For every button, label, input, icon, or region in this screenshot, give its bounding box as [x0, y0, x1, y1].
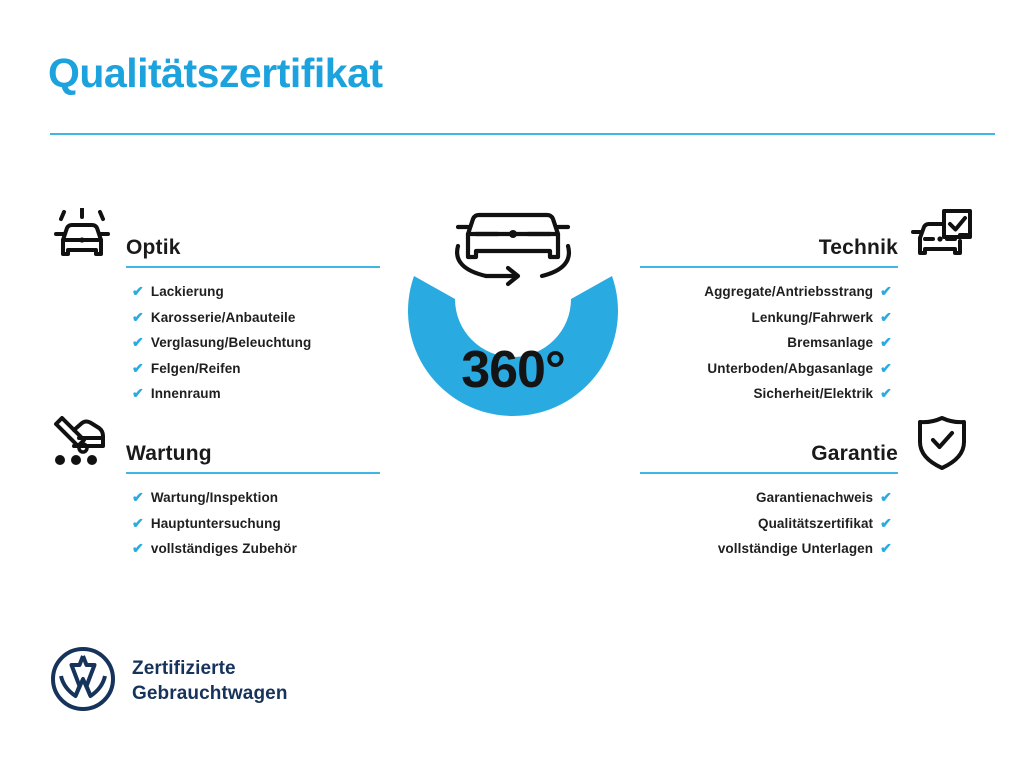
- page-title: Qualitätszertifikat: [48, 52, 383, 95]
- section-title: Wartung: [126, 442, 380, 472]
- list-item-label: Unterboden/Abgasanlage: [707, 362, 873, 376]
- section-underline: [640, 266, 898, 268]
- list-item-label: Qualitätszertifikat: [758, 517, 873, 531]
- check-icon: ✔: [880, 541, 892, 555]
- check-icon: ✔: [880, 310, 892, 324]
- list-item-label: Verglasung/Beleuchtung: [151, 336, 311, 350]
- section-header-garantie: Garantie: [640, 412, 976, 474]
- section-underline: [126, 472, 380, 474]
- check-icon: ✔: [880, 386, 892, 400]
- check-icon: ✔: [132, 516, 144, 530]
- badge-ring: [408, 276, 618, 416]
- check-icon: ✔: [132, 361, 144, 375]
- list-item: ✔Garantienachweis: [640, 490, 892, 505]
- header-divider: [50, 133, 995, 135]
- list-item-label: Sicherheit/Elektrik: [753, 387, 873, 401]
- section-title-wrap-optik: Optik: [126, 236, 380, 268]
- list-item-label: vollständige Unterlagen: [718, 542, 873, 556]
- list-item: ✔Wartung/Inspektion: [132, 490, 380, 505]
- list-item: ✔Lenkung/Fahrwerk: [640, 310, 892, 325]
- list-item: ✔Aggregate/Antriebsstrang: [640, 284, 892, 299]
- list-item: ✔Hauptuntersuchung: [132, 516, 380, 531]
- certificate-page: Qualitätszertifikat: [0, 0, 1024, 768]
- shield-check-icon: [908, 412, 976, 474]
- car-front-shine-icon: [48, 206, 116, 268]
- check-icon: ✔: [880, 361, 892, 375]
- check-icon: ✔: [880, 516, 892, 530]
- list-item-label: Hauptuntersuchung: [151, 517, 281, 531]
- section-technik: Technik ✔Aggregate/Antriebsstrang ✔Lenku…: [640, 206, 976, 412]
- list-item: ✔Sicherheit/Elektrik: [640, 386, 892, 401]
- section-underline: [126, 266, 380, 268]
- check-icon: ✔: [880, 284, 892, 298]
- car-front-checkbox-icon: [908, 206, 976, 268]
- checklist-wartung: ✔Wartung/Inspektion ✔Hauptuntersuchung ✔…: [48, 490, 380, 556]
- list-item: ✔Verglasung/Beleuchtung: [132, 335, 380, 350]
- section-garantie: Garantie ✔Garantienachweis ✔Qualitätszer…: [640, 412, 976, 567]
- check-icon: ✔: [132, 541, 144, 555]
- check-icon: ✔: [132, 490, 144, 504]
- list-item: ✔vollständiges Zubehör: [132, 541, 380, 556]
- checklist-technik: ✔Aggregate/Antriebsstrang ✔Lenkung/Fahrw…: [640, 284, 976, 401]
- section-title-wrap-wartung: Wartung: [126, 442, 380, 474]
- list-item-label: Felgen/Reifen: [151, 362, 241, 376]
- check-icon: ✔: [132, 310, 144, 324]
- section-header-optik: Optik: [48, 206, 380, 268]
- list-item: ✔Bremsanlage: [640, 335, 892, 350]
- checklist-garantie: ✔Garantienachweis ✔Qualitätszertifikat ✔…: [640, 490, 976, 556]
- check-icon: ✔: [132, 284, 144, 298]
- list-item: ✔Qualitätszertifikat: [640, 516, 892, 531]
- list-item: ✔vollständige Unterlagen: [640, 541, 892, 556]
- section-header-wartung: Wartung: [48, 412, 380, 474]
- list-item-label: Lackierung: [151, 285, 224, 299]
- check-icon: ✔: [880, 490, 892, 504]
- section-underline: [640, 472, 898, 474]
- car-rotate-icon: [457, 215, 569, 284]
- section-optik: Optik ✔Lackierung ✔Karosserie/Anbauteile…: [48, 206, 380, 412]
- list-item: ✔Felgen/Reifen: [132, 361, 380, 376]
- section-title-wrap-technik: Technik: [640, 236, 898, 268]
- check-icon: ✔: [132, 335, 144, 349]
- list-item: ✔Karosserie/Anbauteile: [132, 310, 380, 325]
- list-item-label: vollständiges Zubehör: [151, 542, 297, 556]
- vw-brand-text: Zertifizierte Gebrauchtwagen: [132, 657, 288, 706]
- section-title-wrap-garantie: Garantie: [640, 442, 898, 474]
- list-item: ✔Lackierung: [132, 284, 380, 299]
- list-item-label: Garantienachweis: [756, 491, 873, 505]
- footer-brand: Zertifizierte Gebrauchtwagen: [50, 646, 288, 717]
- section-title: Technik: [640, 236, 898, 266]
- list-item-label: Lenkung/Fahrwerk: [752, 311, 874, 325]
- list-item-label: Karosserie/Anbauteile: [151, 311, 296, 325]
- car-service-wrench-icon: [48, 412, 116, 474]
- section-title: Garantie: [640, 442, 898, 472]
- list-item-label: Bremsanlage: [787, 336, 873, 350]
- vw-brand-line1: Zertifizierte: [132, 657, 288, 681]
- list-item: ✔Innenraum: [132, 386, 380, 401]
- list-item-label: Wartung/Inspektion: [151, 491, 278, 505]
- check-icon: ✔: [132, 386, 144, 400]
- list-item-label: Aggregate/Antriebsstrang: [704, 285, 873, 299]
- vw-brand-line2: Gebrauchtwagen: [132, 682, 288, 706]
- badge-360-gebrauchtwagen-check: Gebrauchtwagen-Check: [378, 196, 648, 496]
- vw-logo-icon: [50, 646, 116, 717]
- section-title: Optik: [126, 236, 380, 266]
- list-item: ✔Unterboden/Abgasanlage: [640, 361, 892, 376]
- section-wartung: Wartung ✔Wartung/Inspektion ✔Hauptunters…: [48, 412, 380, 567]
- checklist-optik: ✔Lackierung ✔Karosserie/Anbauteile ✔Verg…: [48, 284, 380, 401]
- check-icon: ✔: [880, 335, 892, 349]
- list-item-label: Innenraum: [151, 387, 221, 401]
- section-header-technik: Technik: [640, 206, 976, 268]
